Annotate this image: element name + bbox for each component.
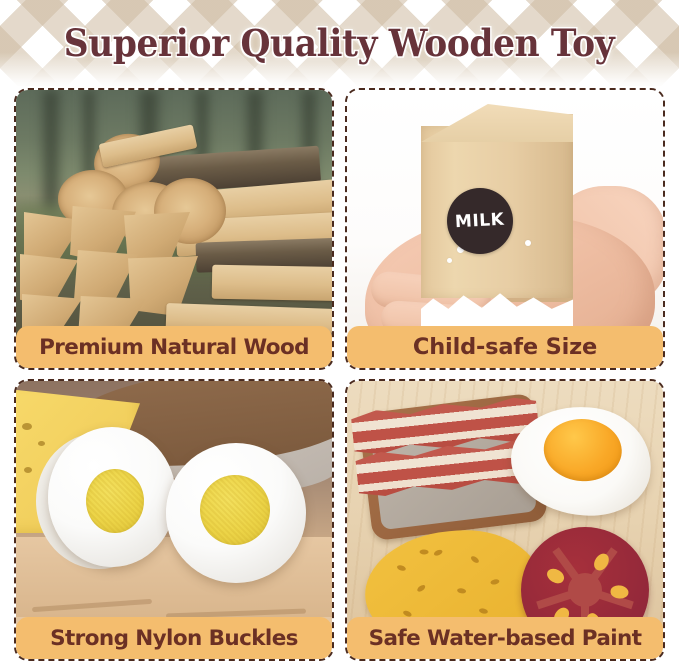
title-bar: Superior Quality Wooden Toy [0,0,679,86]
card-label-text: Strong Nylon Buckles [50,626,298,651]
card-label-text: Child-safe Size [413,334,597,360]
milk-label-badge: MILK [447,188,513,254]
toy-egg-yolk [542,416,624,483]
infographic-root: Superior Quality Wooden Toy [0,0,679,662]
egg-left-velcro [86,469,144,533]
feature-card-premium-natural-wood[interactable]: Premium Natural Wood [14,88,334,370]
egg-left [48,427,176,567]
egg-right [166,443,306,583]
egg-right-velcro [200,475,270,545]
card-label-safe-water-based-paint: Safe Water-based Paint [347,617,663,659]
feature-card-strong-nylon-buckles[interactable]: Strong Nylon Buckles [14,379,334,661]
feature-card-safe-water-based-paint[interactable]: Safe Water-based Paint [345,379,665,661]
feature-card-child-safe-size[interactable]: MILK Child-safe Size [345,88,665,370]
card-label-text: Safe Water-based Paint [369,626,642,651]
feature-card-grid: Premium Natural Wood MILK [14,88,665,650]
card-label-child-safe-size: Child-safe Size [347,326,663,368]
milk-label-text: MILK [455,210,505,233]
card-label-premium-natural-wood: Premium Natural Wood [16,326,332,368]
card-label-text: Premium Natural Wood [39,335,309,360]
carton-roof [421,104,573,142]
page-title: Superior Quality Wooden Toy [64,21,615,65]
card-label-strong-nylon-buckles: Strong Nylon Buckles [16,617,332,659]
